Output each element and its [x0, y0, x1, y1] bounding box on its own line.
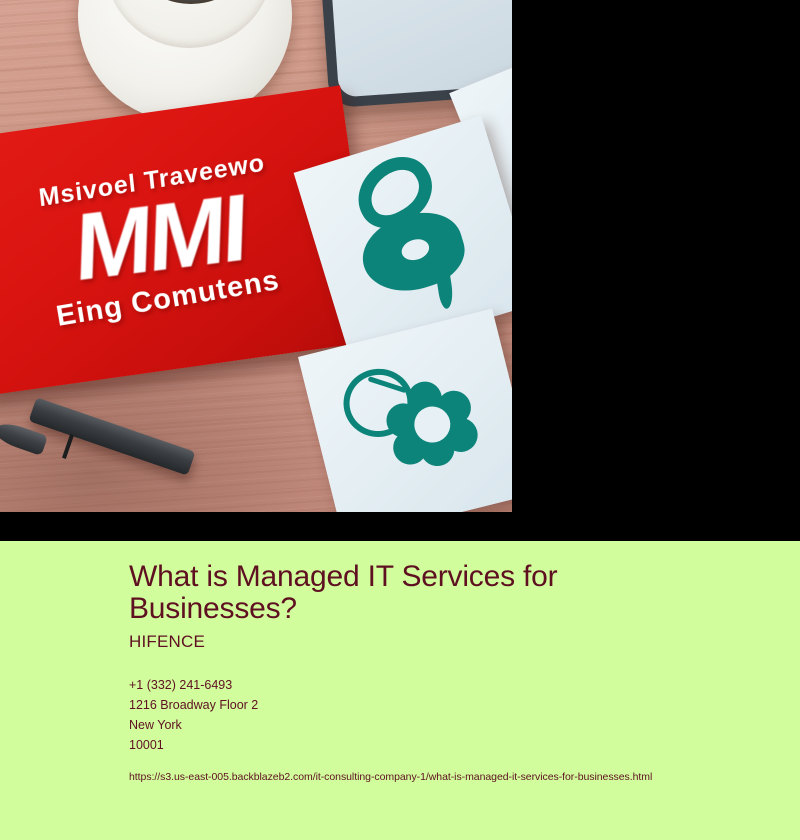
hero-image: Msivoel Traveewo MMI Eing Comutens — [0, 0, 512, 512]
contact-zip: 10001 — [129, 735, 800, 755]
brand-name: HIFENCE — [129, 632, 800, 652]
content-section: What is Managed IT Services for Business… — [0, 541, 800, 840]
contact-city: New York — [129, 715, 800, 735]
contact-street: 1216 Broadway Floor 2 — [129, 695, 800, 715]
contact-list: +1 (332) 241-6493 1216 Broadway Floor 2 … — [129, 675, 800, 755]
source-url[interactable]: https://s3.us-east-005.backblazeb2.com/i… — [129, 771, 800, 783]
page-title: What is Managed IT Services for Business… — [129, 561, 629, 626]
contact-phone: +1 (332) 241-6493 — [129, 675, 800, 695]
page-root: Msivoel Traveewo MMI Eing Comutens — [0, 0, 800, 840]
